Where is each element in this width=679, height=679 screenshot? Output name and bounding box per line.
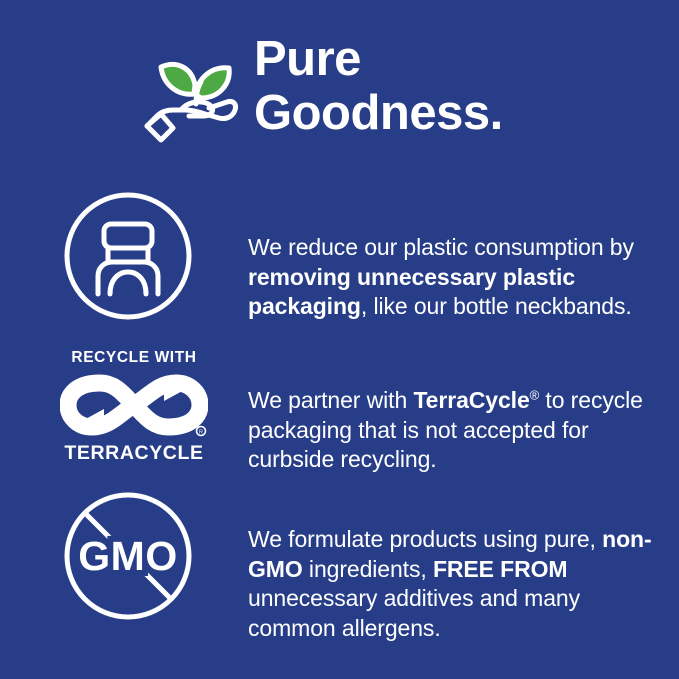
benefit-text-plastic: We reduce our plastic consumption by rem… <box>248 233 668 322</box>
text-segment: ingredients, <box>303 556 433 582</box>
benefit-text-terracycle: We partner with TerraCycle® to recycle p… <box>248 386 668 475</box>
benefit-text-gmo: We formulate products using pure, non-GM… <box>248 525 668 643</box>
text-segment: , like our bottle neckbands. <box>361 293 632 319</box>
page-title: Pure Goodness. <box>254 32 654 140</box>
terracycle-top-label: RECYCLE WITH <box>60 349 208 367</box>
terracycle-infinity-logo: RECYCLE WITH R TERRACYCLE <box>60 347 208 477</box>
text-segment: We partner with <box>248 387 413 413</box>
terracycle-lockup: RECYCLE WITH R TERRACYCLE <box>60 347 208 472</box>
text-segment: We formulate products using pure, <box>248 526 602 552</box>
benefit-row-plastic: We reduce our plastic consumption by rem… <box>0 190 679 340</box>
text-segment-bold: TerraCycle <box>413 387 529 413</box>
plastic-bottle-neck-icon <box>62 190 194 322</box>
hand-holding-sprout-icon <box>139 38 251 150</box>
gmo-label: GMO <box>78 533 177 579</box>
svg-text:R: R <box>199 430 203 436</box>
benefit-row-gmo: GMO GMO We formulate products using pure… <box>0 490 679 645</box>
benefit-row-terracycle: RECYCLE WITH R TERRACYCLE <box>0 345 679 485</box>
registered-mark: ® <box>530 387 539 402</box>
text-segment-bold: FREE FROM <box>433 556 568 582</box>
text-segment: unnecessary additives and many common al… <box>248 585 580 641</box>
terracycle-bottom-label: TERRACYCLE <box>60 442 208 464</box>
text-segment: We reduce our plastic consumption by <box>248 234 634 260</box>
no-gmo-icon: GMO GMO <box>62 490 194 622</box>
pure-goodness-infographic: Pure Goodness. We reduce our plastic con… <box>0 0 679 679</box>
infinity-arrows-icon: R <box>60 369 208 441</box>
header: Pure Goodness. <box>0 0 679 178</box>
